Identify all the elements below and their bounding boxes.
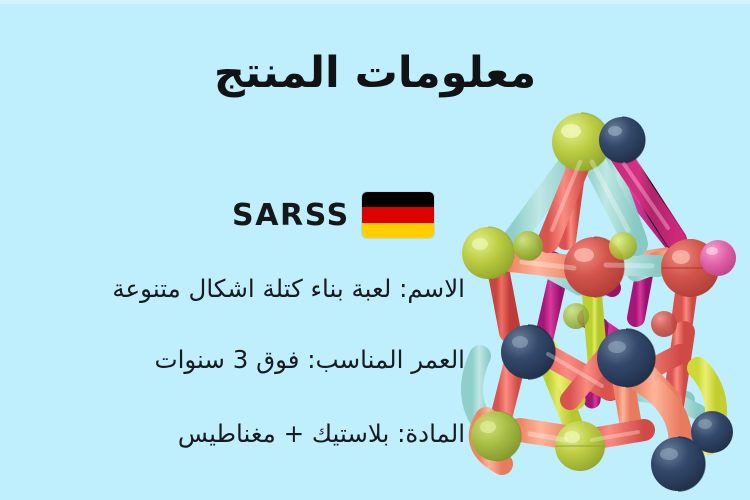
spec-line-name: الاسم: لعبة بناء كتلة اشكال متنوعة	[25, 274, 465, 303]
germany-flag-icon	[362, 192, 434, 238]
product-info-card: معلومات المنتج SARSS الاسم: لعبة بناء كت…	[0, 0, 750, 500]
flag-stripe-black	[362, 192, 434, 207]
brand-row: SARSS	[232, 192, 434, 238]
flag-stripe-gold	[362, 223, 434, 238]
product-image	[440, 100, 750, 500]
top-edge-strip	[0, 0, 750, 4]
spec-line-age: العمر المناسب: فوق 3 سنوات	[25, 345, 465, 374]
flag-stripe-red	[362, 207, 434, 222]
page-title: معلومات المنتج	[0, 47, 750, 101]
spec-line-material: المادة: بلاستيك + مغناطيس	[25, 419, 465, 448]
brand-name: SARSS	[232, 198, 350, 233]
magnetic-blocks-illustration	[440, 100, 750, 500]
